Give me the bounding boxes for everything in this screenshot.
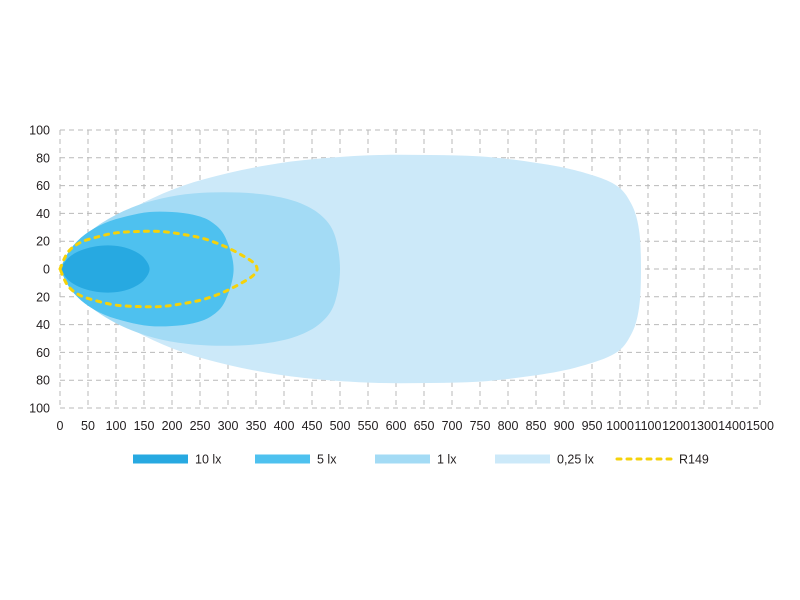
y-tick-label: 20 [36,235,50,249]
legend-label: 0,25 lx [557,453,595,467]
x-tick-label: 700 [442,419,463,433]
y-tick-label: 100 [29,402,50,416]
x-tick-label: 550 [358,419,379,433]
y-tick-label: 80 [36,374,50,388]
x-tick-label: 300 [218,419,239,433]
x-axis-tick-labels: 0501001502002503003504004505005506006507… [57,419,774,433]
legend-label: 5 lx [317,453,337,467]
x-tick-label: 1500 [746,419,774,433]
y-tick-label: 60 [36,179,50,193]
x-tick-label: 0 [57,419,64,433]
y-tick-label: 80 [36,151,50,165]
legend-swatch [495,455,550,464]
y-tick-label: 0 [43,263,50,277]
y-tick-label: 40 [36,207,50,221]
x-tick-label: 850 [526,419,547,433]
x-tick-label: 350 [246,419,267,433]
isolux-chart-svg: 10080604020020406080100 0501001502002503… [0,0,800,600]
x-tick-label: 450 [302,419,323,433]
x-tick-label: 500 [330,419,351,433]
x-tick-label: 750 [470,419,491,433]
legend-label: 1 lx [437,453,457,467]
x-tick-label: 600 [386,419,407,433]
x-tick-label: 200 [162,419,183,433]
y-tick-label: 20 [36,290,50,304]
light-distribution-diagram: 10080604020020406080100 0501001502002503… [0,0,800,600]
x-tick-label: 250 [190,419,211,433]
x-tick-label: 50 [81,419,95,433]
legend-swatch [133,455,188,464]
x-tick-label: 1000 [606,419,634,433]
x-tick-label: 1400 [718,419,746,433]
legend-label: 10 lx [195,453,222,467]
x-tick-label: 1200 [662,419,690,433]
x-tick-label: 100 [106,419,127,433]
x-tick-label: 1100 [635,419,662,433]
legend-label: R149 [679,453,709,467]
x-tick-label: 650 [414,419,435,433]
x-tick-label: 900 [554,419,575,433]
y-tick-label: 40 [36,318,50,332]
legend-swatch [255,455,310,464]
legend-swatch [375,455,430,464]
x-tick-label: 150 [134,419,155,433]
x-tick-label: 950 [582,419,603,433]
x-tick-label: 400 [274,419,295,433]
y-tick-label: 100 [29,124,50,138]
x-tick-label: 800 [498,419,519,433]
x-tick-label: 1300 [690,419,718,433]
y-tick-label: 60 [36,346,50,360]
